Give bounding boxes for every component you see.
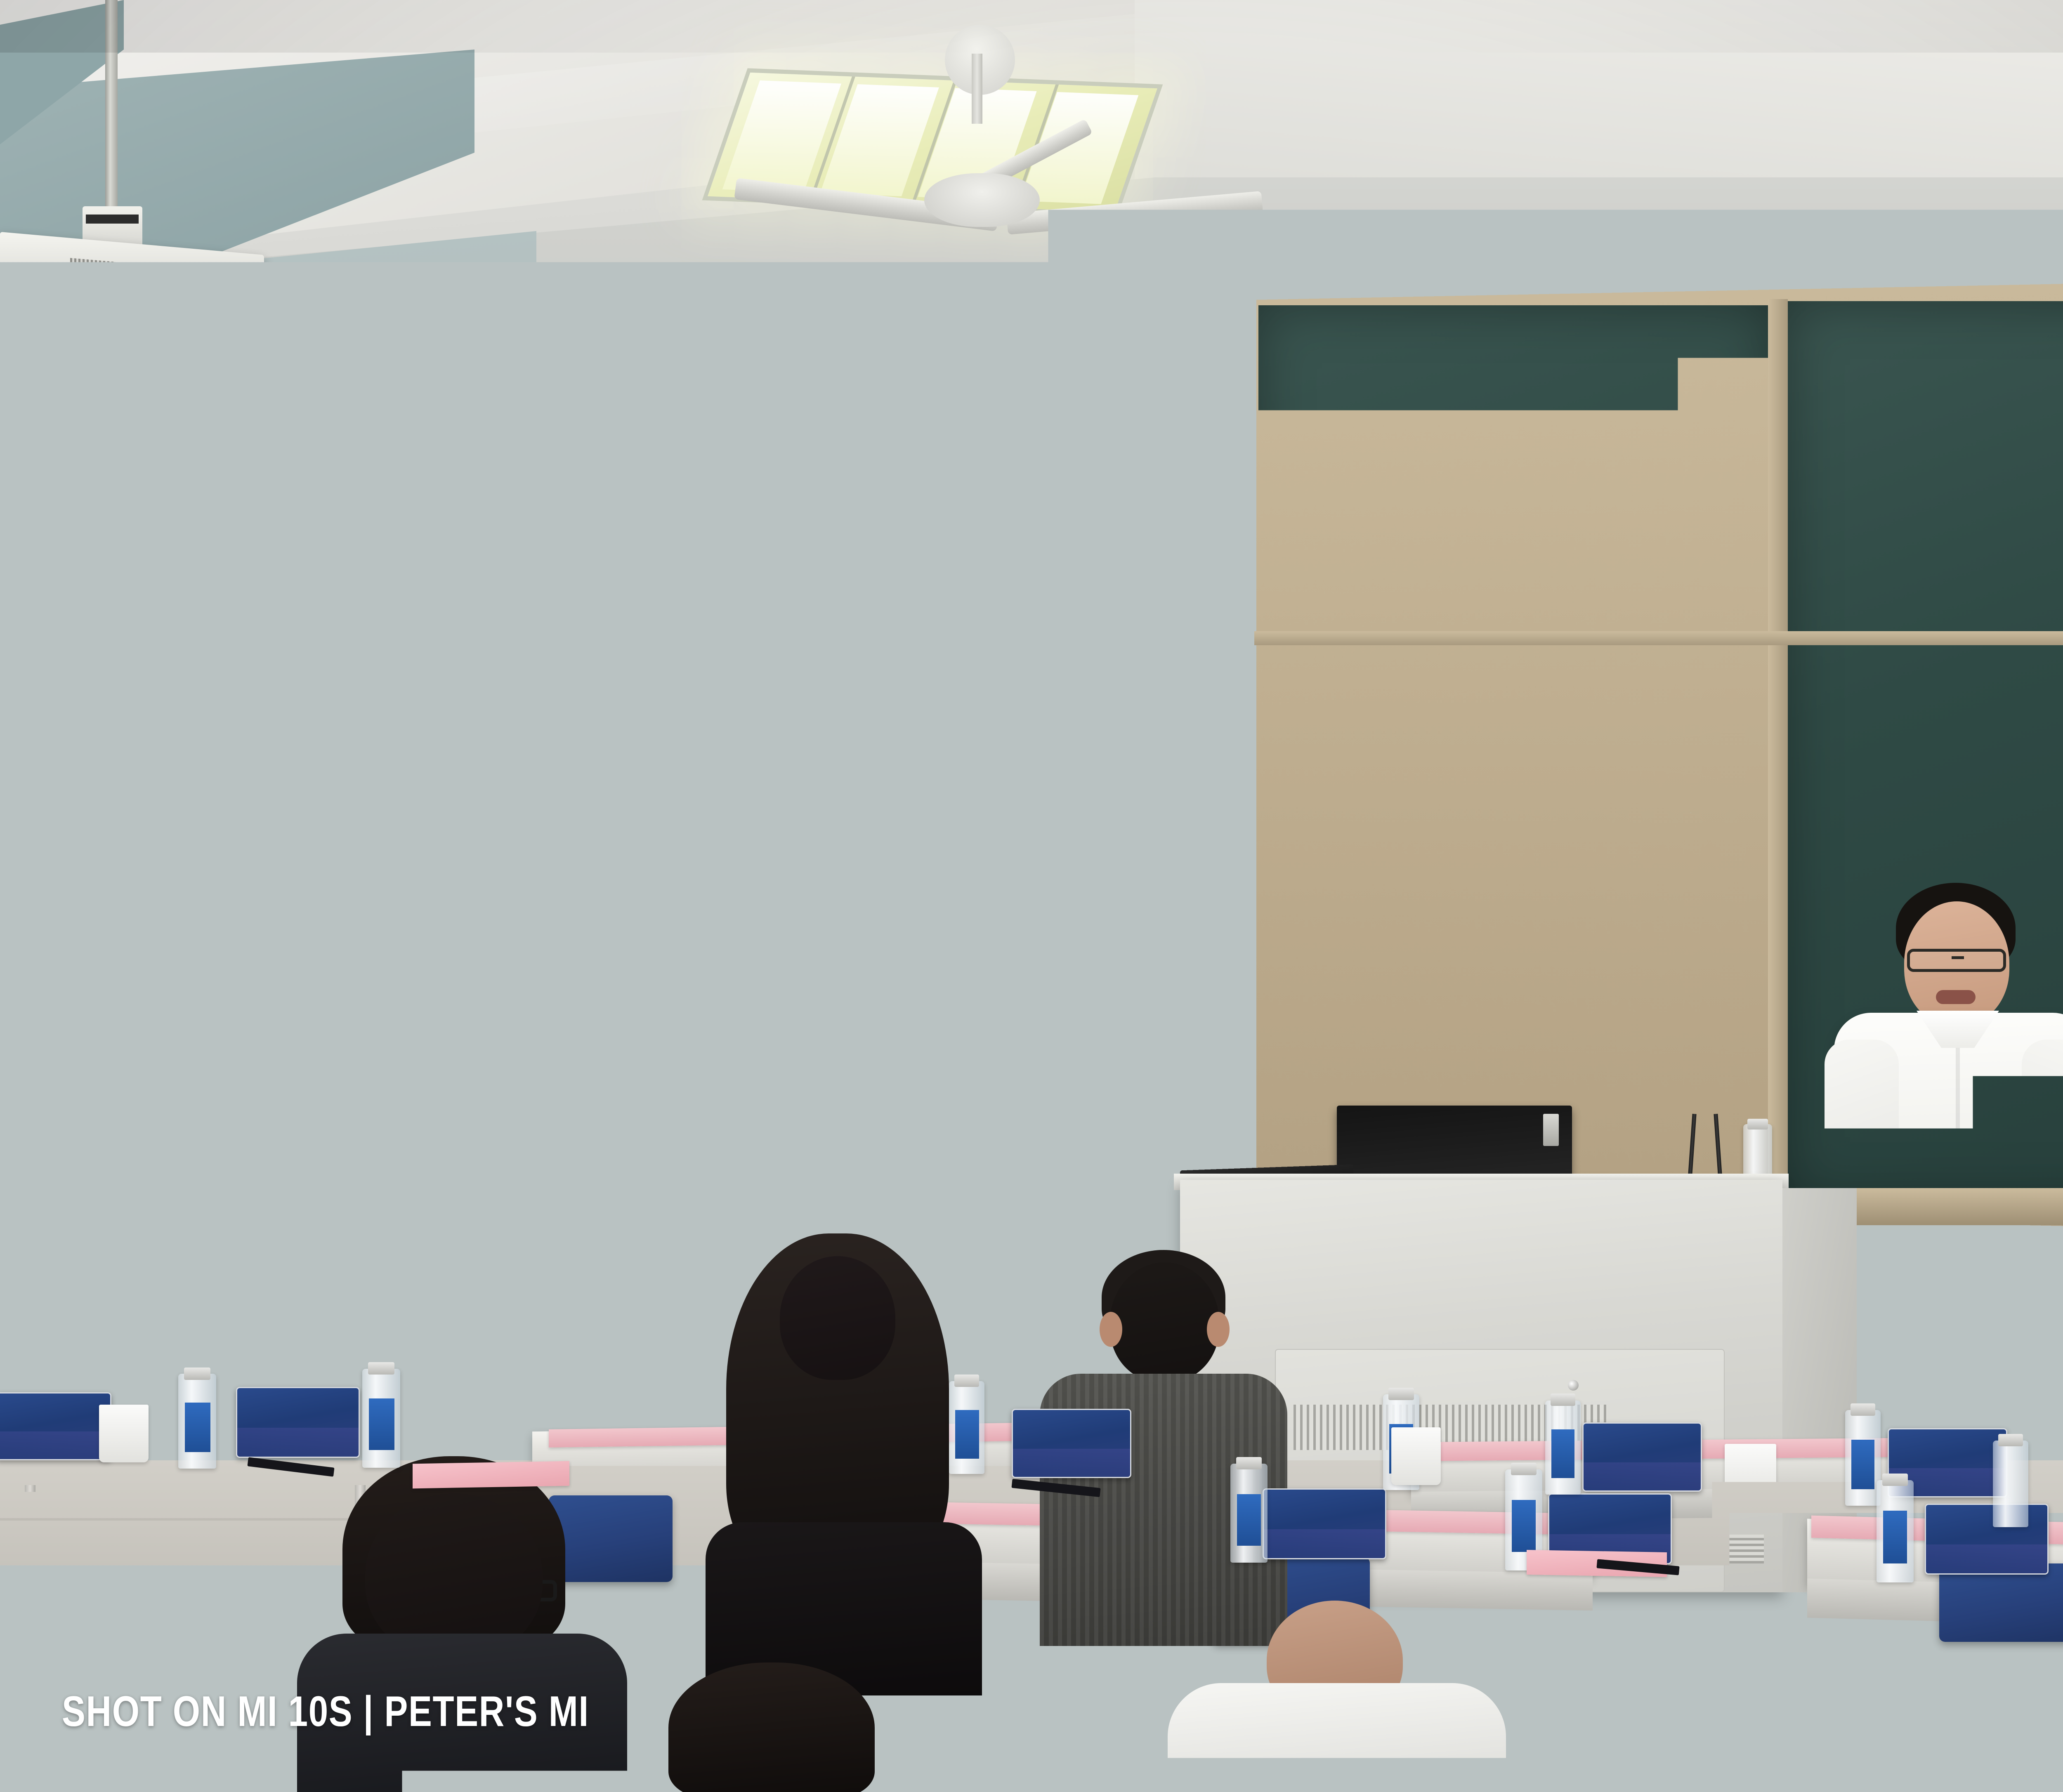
placard-header: 厦门大学电影学院: [1921, 1442, 1974, 1452]
name-placard: 厦门大学电影学院 姚俊峰: [1582, 1422, 1702, 1492]
torso-white-tshirt: [1168, 1683, 1506, 1792]
bottle-label: [1883, 1511, 1907, 1563]
person-audience-front-white-shirt: [1168, 1601, 1506, 1792]
xmu-emblem-icon: [21, 529, 67, 575]
person-standing-left: [95, 961, 392, 1456]
bottle-cap: [954, 1375, 979, 1387]
paper-cup[interactable]: [1391, 1427, 1441, 1485]
placard-name: 余卫忠: [1948, 1529, 2025, 1561]
ear: [1100, 1312, 1122, 1347]
person-audience-front-left: [297, 1456, 627, 1792]
placard-header: 厦门大学电影学院: [1960, 1517, 2013, 1527]
bottle-cap: [1747, 1119, 1768, 1129]
slide-logo: 厦门大学|电影学院 SCHOOL OF FILM XIAMEN UNIVERSI…: [21, 528, 299, 576]
watermark-dot-filled: [98, 1644, 120, 1676]
blackboard-divider-horizontal: [1254, 631, 2063, 645]
placard-header: 厦门大学电影学院: [1298, 1502, 1351, 1512]
bottle-label: [1237, 1494, 1261, 1546]
bottle-label: [955, 1410, 979, 1459]
person-audience-front-center: [644, 1662, 899, 1792]
watermark-timestamp: 2023.11.02 09:16: [2033, 1687, 2063, 1736]
bottle-cap: [184, 1368, 210, 1380]
slide-title: “光影之间，创新不息”电影交流会: [0, 809, 1164, 897]
head: [780, 1256, 895, 1380]
hair: [0, 1535, 140, 1708]
ceiling-fan-hub: [924, 173, 1040, 227]
placard-header: 厦门大学电影学院: [1616, 1436, 1669, 1447]
name-placard: 厦门大学电影学院 刘晴: [1012, 1409, 1131, 1478]
name-placard: 厦门大学电影学院 林小淋: [1263, 1488, 1386, 1559]
podium-lock-icon[interactable]: [1568, 1380, 1579, 1391]
name-placard: 厦门大学电影学院 林焱章: [236, 1387, 360, 1458]
paper-cup[interactable]: [1725, 1444, 1776, 1504]
watermark-dot-hollow: [158, 1646, 174, 1674]
slide-logo-en: SCHOOL OF FILM XIAMEN UNIVERSITY: [78, 566, 299, 576]
ceiling-conduit-vertical: [1077, 272, 1086, 408]
bottle-cap: [1998, 1434, 2023, 1446]
head: [1110, 1262, 1219, 1382]
person-speaker-right: [1815, 866, 2063, 1485]
chair[interactable]: [961, 1662, 1176, 1792]
bottle-cap: [368, 1362, 394, 1375]
belt-buckle: [1947, 1304, 1973, 1325]
placard-header: 厦门大学电影学院: [27, 1405, 80, 1415]
bottle-cap: [1882, 1474, 1908, 1486]
bottle-cap: [1851, 1403, 1875, 1416]
eyeglasses-icon: [1907, 949, 2006, 972]
bottle-label: [369, 1398, 394, 1450]
screen-casing: [0, 456, 1192, 493]
placard-name: 林小淋: [1286, 1514, 1363, 1546]
bottle-cap: [1236, 1457, 1262, 1469]
name-placard: 厦门大学电影学院 林: [0, 1392, 111, 1460]
bottle-label: [1851, 1440, 1874, 1489]
bottle-label: [185, 1403, 210, 1452]
placard-name: 邓永平: [1572, 1518, 1648, 1551]
ceiling-fan-stem: [972, 54, 982, 124]
laptop-badge: [1543, 1114, 1559, 1146]
watermark-dot-filled: [66, 1644, 87, 1676]
projector-vent: [70, 258, 116, 295]
hair-front: [140, 986, 223, 1040]
paper-cup[interactable]: [99, 1405, 149, 1462]
security-camera-lens: [198, 424, 210, 436]
name-placard: 厦门大学电影学院 余卫忠: [1925, 1504, 2049, 1575]
bottle-cap: [1551, 1394, 1575, 1406]
bottle-label: [1551, 1429, 1574, 1478]
placard-name: 刘晴: [1046, 1433, 1097, 1466]
photo-canvas: 厦门大学|电影学院 SCHOOL OF FILM XIAMEN UNIVERSI…: [0, 0, 2063, 1792]
placard-name: 林公翔: [1912, 1454, 1983, 1484]
water-bottle[interactable]: [1993, 1441, 2028, 1527]
ear: [1207, 1312, 1230, 1347]
person-audience-woman-center: [701, 1233, 990, 1687]
watermark-dot-hollow: [130, 1646, 147, 1674]
slide-logo-cn: 厦门大学|电影学院: [78, 528, 299, 564]
placard-header: 厦门大学电影学院: [1584, 1507, 1636, 1517]
chair[interactable]: [1939, 1563, 2063, 1642]
mouth: [1936, 990, 1976, 1004]
projector-bracket-slot: [86, 215, 139, 224]
watermark-brand-text: SHOT ON MI 10S | PETER'S MI: [62, 1687, 589, 1736]
bottle-cap: [1511, 1463, 1537, 1475]
placard-header: 厦门大学电影学院: [1045, 1421, 1098, 1431]
light-hanger: [912, 363, 917, 433]
document-on-desk[interactable]: [413, 1461, 569, 1489]
placard-header: 厦门大学电影学院: [271, 1401, 324, 1411]
hand-right: [1954, 1221, 2020, 1275]
watermark-dots: [66, 1644, 174, 1676]
placard-name: 林焱章: [261, 1413, 335, 1444]
bottle-cap: [1388, 1388, 1414, 1400]
eyeglasses-bridge: [1952, 956, 1964, 959]
placard-name: 姚俊峰: [1606, 1448, 1678, 1478]
hair: [1840, 1662, 2063, 1792]
placard-name: 林: [41, 1417, 66, 1448]
wall-outlet[interactable]: [1186, 996, 1209, 1026]
bottle-label: [1512, 1500, 1536, 1552]
projector-mount-pole: [105, 0, 118, 215]
hair: [668, 1662, 875, 1792]
person-audience-front-right: [1824, 1662, 2063, 1792]
